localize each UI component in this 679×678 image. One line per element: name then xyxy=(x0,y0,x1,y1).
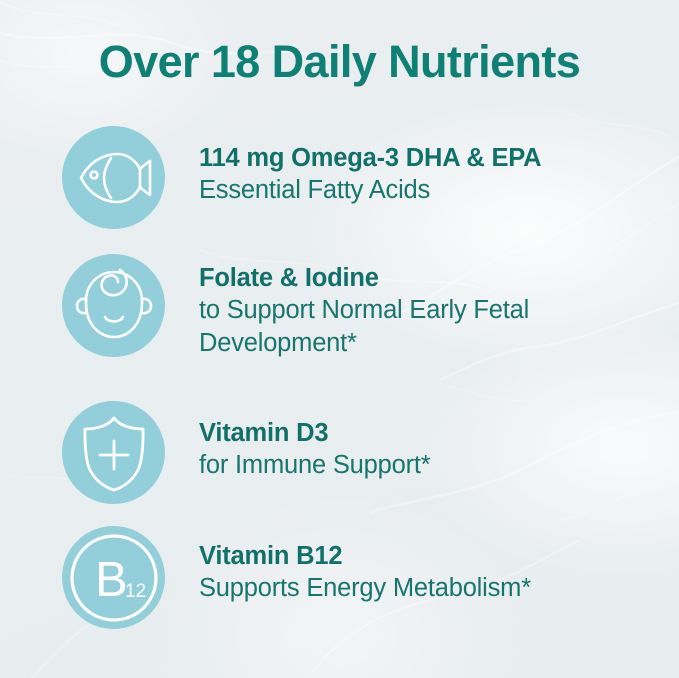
shield-plus-icon-badge xyxy=(62,401,165,504)
nutrient-title: Vitamin D3 xyxy=(199,417,430,449)
b12-circle-icon: B 12 xyxy=(65,529,163,627)
fish-icon xyxy=(71,135,157,221)
list-item: B 12 Vitamin B12 Supports Energy Metabol… xyxy=(62,526,662,629)
baby-face-icon-badge xyxy=(62,254,165,357)
shield-plus-icon xyxy=(71,410,157,496)
nutrient-subtitle: to Support Normal Early Fetal Developmen… xyxy=(199,294,662,360)
nutrient-subtitle: for Immune Support* xyxy=(199,449,430,482)
nutrient-infographic: Over 18 Daily Nutrients 114 mg Omega-3 D… xyxy=(0,0,679,678)
list-item: 114 mg Omega-3 DHA & EPA Essential Fatty… xyxy=(62,126,662,229)
nutrient-text: Vitamin D3 for Immune Support* xyxy=(199,401,430,482)
page-title: Over 18 Daily Nutrients xyxy=(0,36,679,88)
nutrient-text: Vitamin B12 Supports Energy Metabolism* xyxy=(199,526,531,605)
fish-icon-badge xyxy=(62,126,165,229)
nutrient-text: 114 mg Omega-3 DHA & EPA Essential Fatty… xyxy=(199,126,541,207)
list-item: Folate & Iodine to Support Normal Early … xyxy=(62,254,662,360)
list-item: Vitamin D3 for Immune Support* xyxy=(62,401,662,504)
nutrient-title: Vitamin B12 xyxy=(199,540,531,572)
baby-face-icon xyxy=(71,263,157,349)
nutrient-subtitle: Supports Energy Metabolism* xyxy=(199,572,531,605)
b12-circle-icon-badge: B 12 xyxy=(62,526,165,629)
b12-letter: B xyxy=(95,553,128,607)
nutrient-title: Folate & Iodine xyxy=(199,262,662,294)
nutrient-subtitle: Essential Fatty Acids xyxy=(199,174,541,207)
nutrient-text: Folate & Iodine to Support Normal Early … xyxy=(199,254,662,360)
b12-subscript: 12 xyxy=(125,581,146,602)
nutrient-title: 114 mg Omega-3 DHA & EPA xyxy=(199,142,541,174)
